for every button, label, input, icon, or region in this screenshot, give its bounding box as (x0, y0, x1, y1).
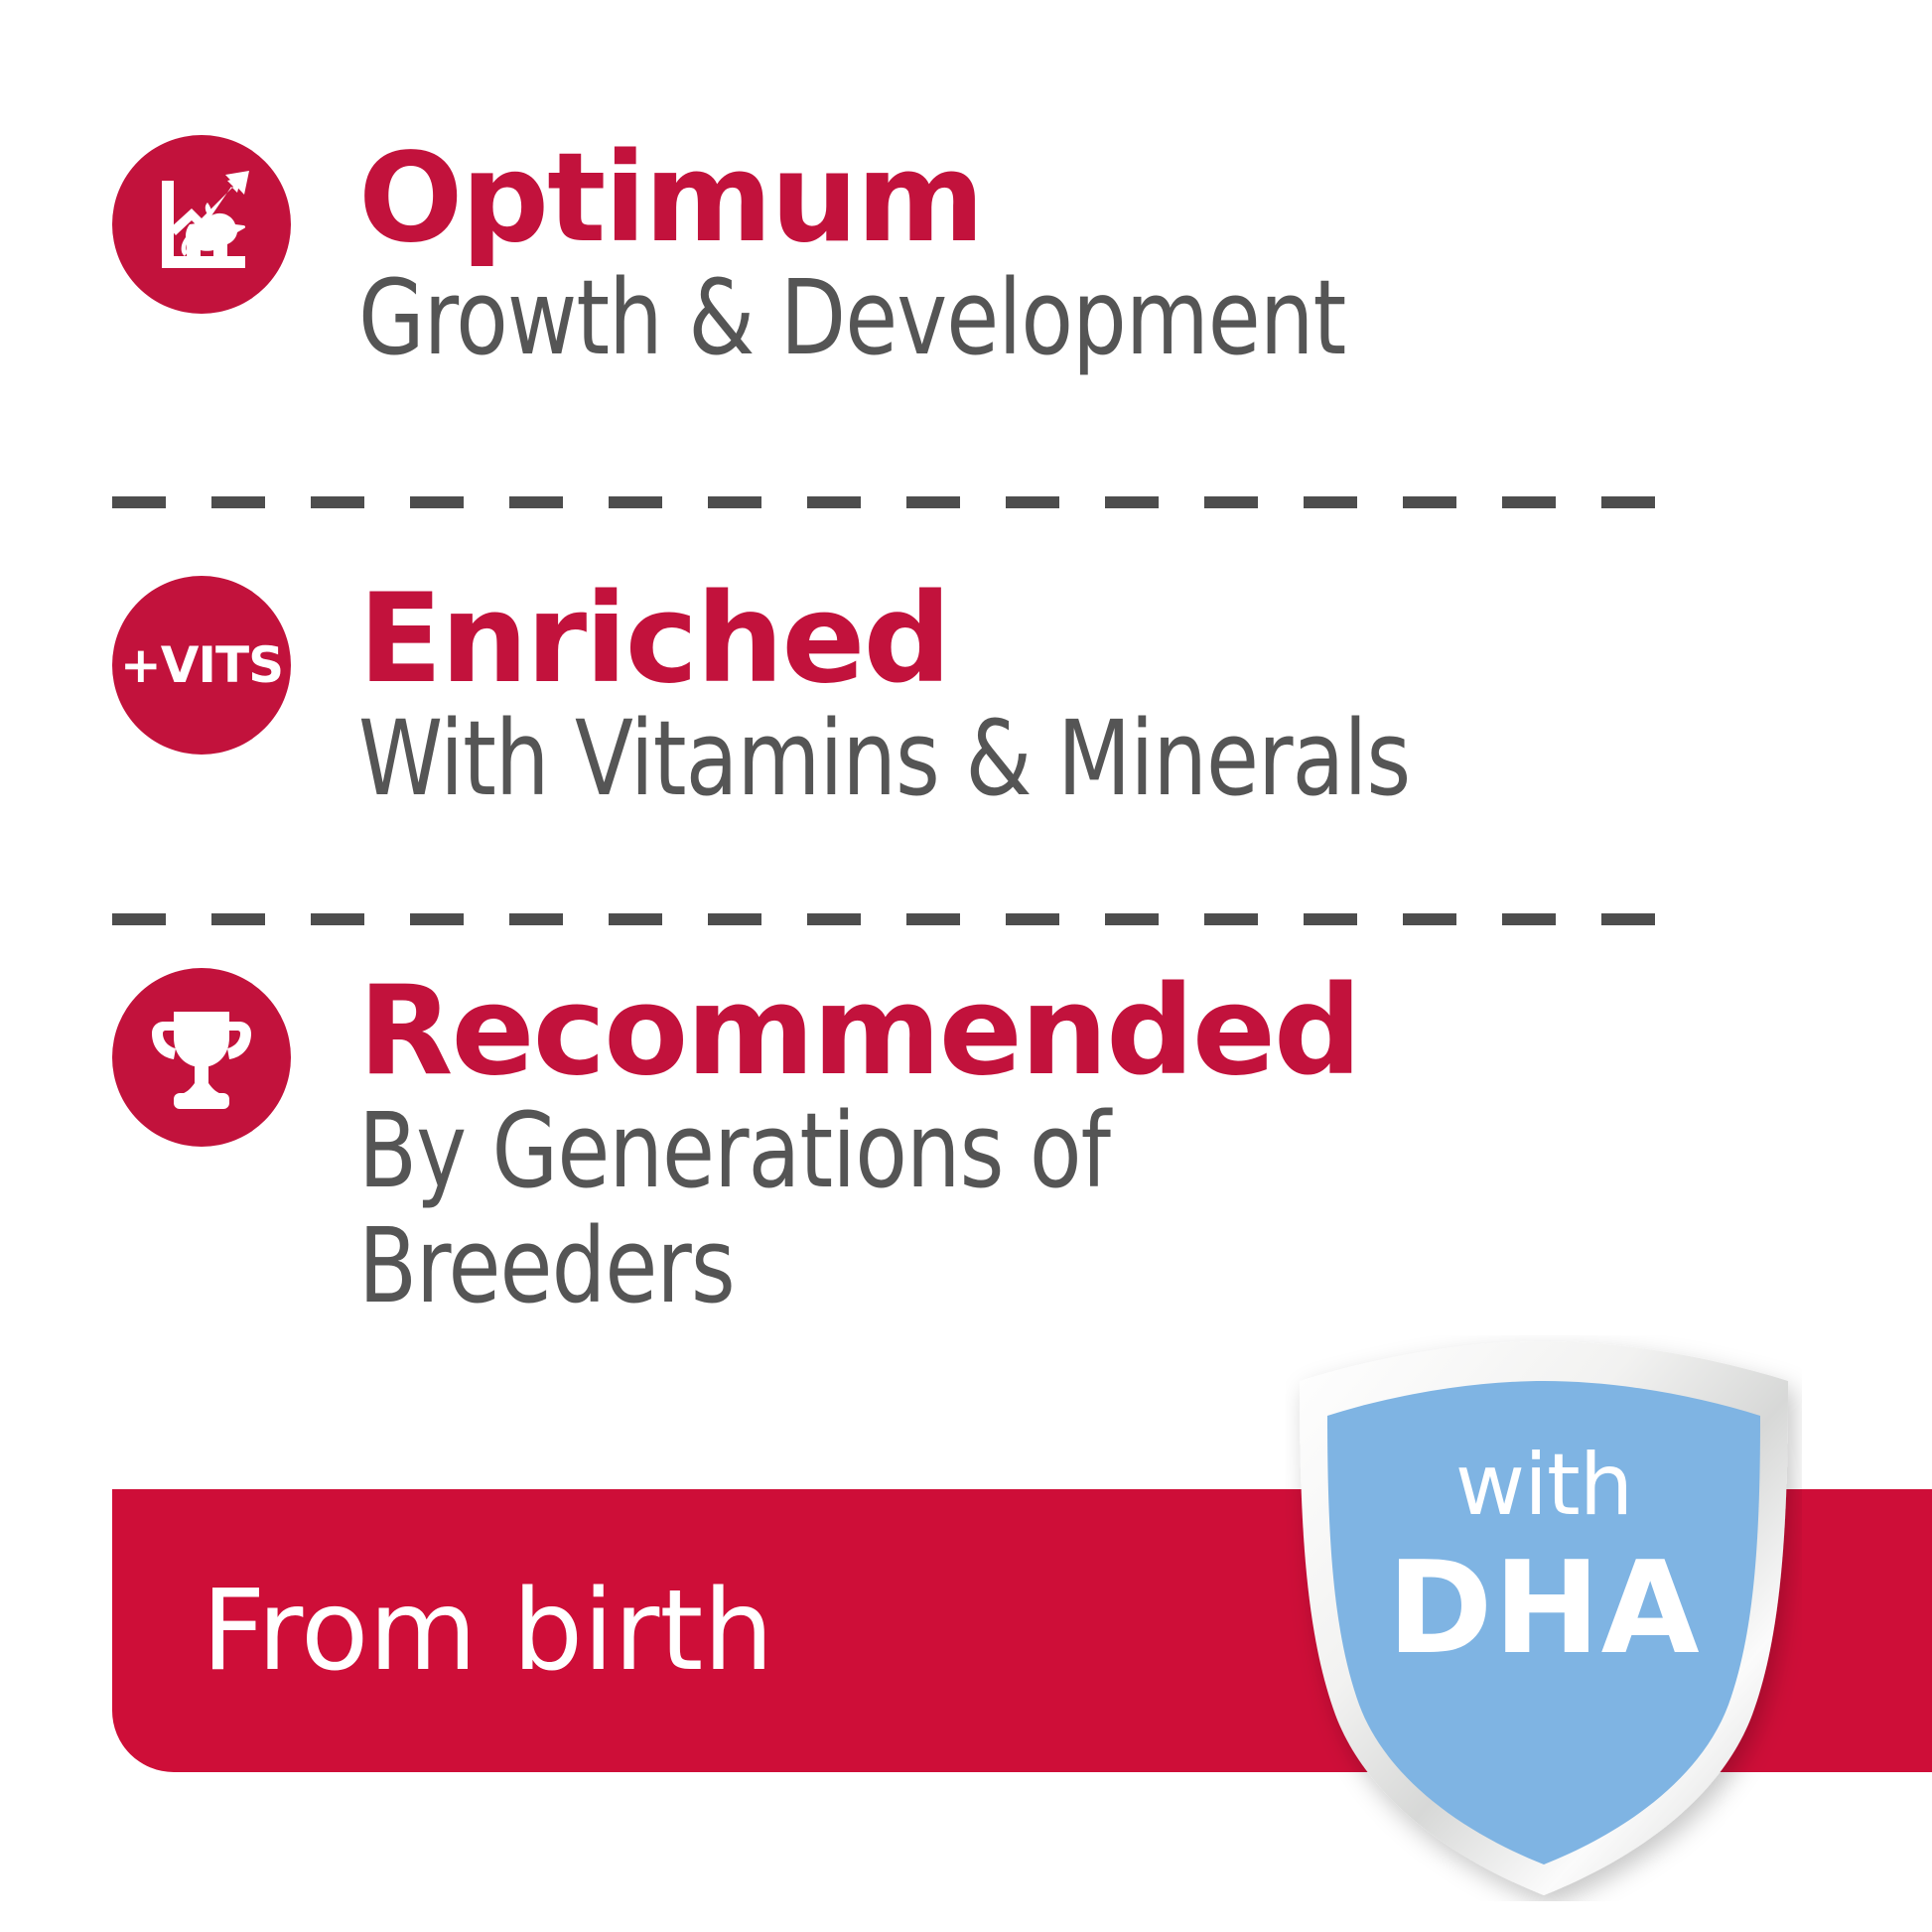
divider-1 (112, 496, 1661, 508)
feature-subline: Growth & Development (358, 260, 1345, 375)
promo-canvas: Optimum Growth & Development +VITS Enric… (0, 0, 1932, 1932)
plus-vits-icon: +VITS (112, 576, 291, 755)
plus-vits-label: +VITS (120, 640, 283, 690)
feature-headline: Enriched (358, 578, 1501, 701)
feature-text-optimum: Optimum Growth & Development (358, 135, 1432, 375)
banner-label: From birth (202, 1576, 773, 1687)
feature-row-optimum: Optimum Growth & Development (112, 135, 1432, 375)
feature-subline-1: By Generations of (358, 1093, 1280, 1208)
feature-row-enriched: +VITS Enriched With Vitamins & Minerals (112, 576, 1501, 816)
shield-label-dha: DHA (1286, 1546, 1802, 1673)
divider-2 (112, 913, 1661, 925)
feature-subline: With Vitamins & Minerals (358, 701, 1410, 816)
feature-text-recommended: Recommended By Generations of Breeders (358, 968, 1360, 1324)
feature-headline: Recommended (358, 970, 1360, 1093)
feature-text-enriched: Enriched With Vitamins & Minerals (358, 576, 1501, 816)
feature-row-recommended: Recommended By Generations of Breeders (112, 968, 1360, 1324)
feature-subline-2: Breeders (358, 1208, 1280, 1323)
shield-label-with: with (1286, 1443, 1802, 1528)
dha-shield-icon: with DHA (1286, 1335, 1802, 1901)
trophy-icon (112, 968, 291, 1147)
growth-chart-dog-icon (112, 135, 291, 314)
feature-headline: Optimum (358, 137, 1432, 260)
